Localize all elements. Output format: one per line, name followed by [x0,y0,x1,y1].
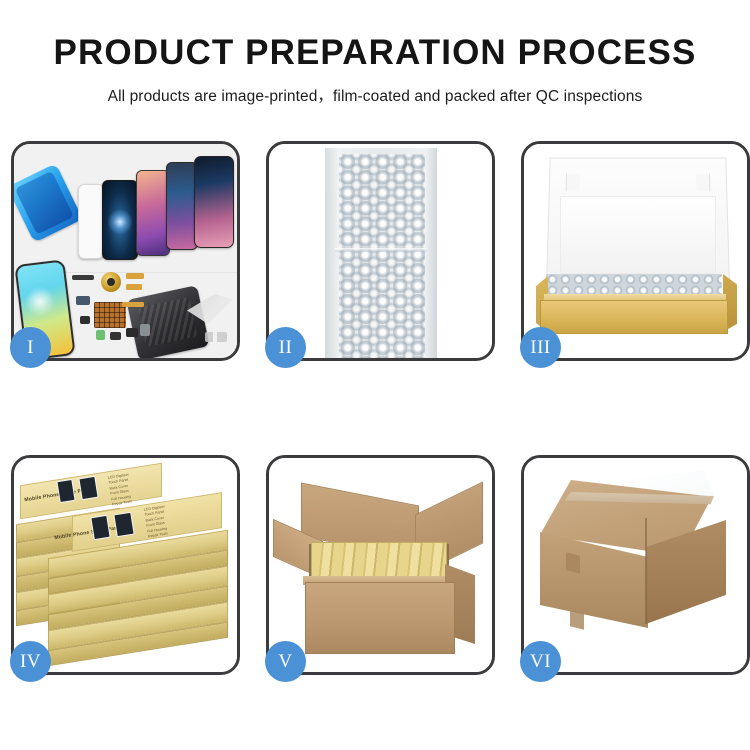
carton-front-panel [305,582,455,654]
box-thumbnail-1a [56,479,75,503]
lid-tab-right [696,174,710,191]
step-badge-1: I [10,327,51,368]
step-panel-3[interactable]: III [521,141,750,361]
battery-icon [96,330,105,340]
step-badge-6: VI [520,641,561,682]
step-badge-3: III [520,327,561,368]
step-badge-5: V [265,641,306,682]
retail-box-stack: Mobile Phone Spare Parts LCD Digitizer T… [14,458,237,672]
flex-cable-icon-2 [126,284,142,290]
dark-screen-icon [102,180,138,260]
pink-screen-icon [194,156,234,248]
step-panel-2[interactable]: II [266,141,495,361]
box-thumbnail-1b [78,476,98,500]
page-subtitle: All products are image-printed，film-coat… [0,84,750,106]
phone-backplate-icon [126,285,209,358]
camera-module-icon [76,296,90,305]
step-image-4: Mobile Phone Spare Parts LCD Digitizer T… [14,458,237,672]
step-image-5 [269,458,492,672]
blue-back-panel-icon [14,163,83,242]
step-badge-2: II [265,327,306,368]
flex-cable-icon-3 [122,302,144,307]
purple-screen-icon [136,170,170,256]
step-panel-4[interactable]: Mobile Phone Spare Parts LCD Digitizer T… [11,455,240,675]
step-panel-5[interactable]: V [266,455,495,675]
flex-cable-icon-1 [126,273,144,279]
small-part-icon-1 [80,316,90,324]
product-preparation-process-infographic: PRODUCT PREPARATION PROCESS All products… [0,0,750,750]
step-image-6 [524,458,747,672]
carton-handle-notch-bottom [570,610,584,629]
small-part-icon-4 [140,324,150,336]
wrap-seam [335,248,427,252]
carton-handle-notch-top [566,552,580,573]
steps-grid: I II [11,141,739,675]
speaker-coil-icon [101,272,121,292]
step-panel-1[interactable]: I [11,141,240,361]
box-thumbnail-2a [90,515,110,540]
carton-corner-edge [645,518,647,624]
step-image-2 [269,144,492,358]
box-front-panel [540,300,728,334]
step-panel-6[interactable]: VI [521,455,750,675]
lid-tab-left [566,174,580,191]
box-thumbnail-2b [113,512,134,538]
step-badge-4: IV [10,641,51,682]
small-part-icon-3 [126,328,138,337]
screwdriver-bits-icon [205,332,227,342]
header: PRODUCT PREPARATION PROCESS All products… [0,0,750,106]
foam-insert [560,196,716,274]
bubble-wrap-package [325,148,437,358]
step-image-1 [14,144,237,358]
page-title: PRODUCT PREPARATION PROCESS [0,34,750,73]
step-image-3 [524,144,747,358]
wrap-fold-left [325,148,339,358]
connector-strip-icon [72,275,94,280]
white-screen-icon [78,184,104,259]
bubble-pattern-back [339,154,425,358]
wrap-fold-right [425,148,437,358]
small-part-icon-2 [110,332,121,340]
